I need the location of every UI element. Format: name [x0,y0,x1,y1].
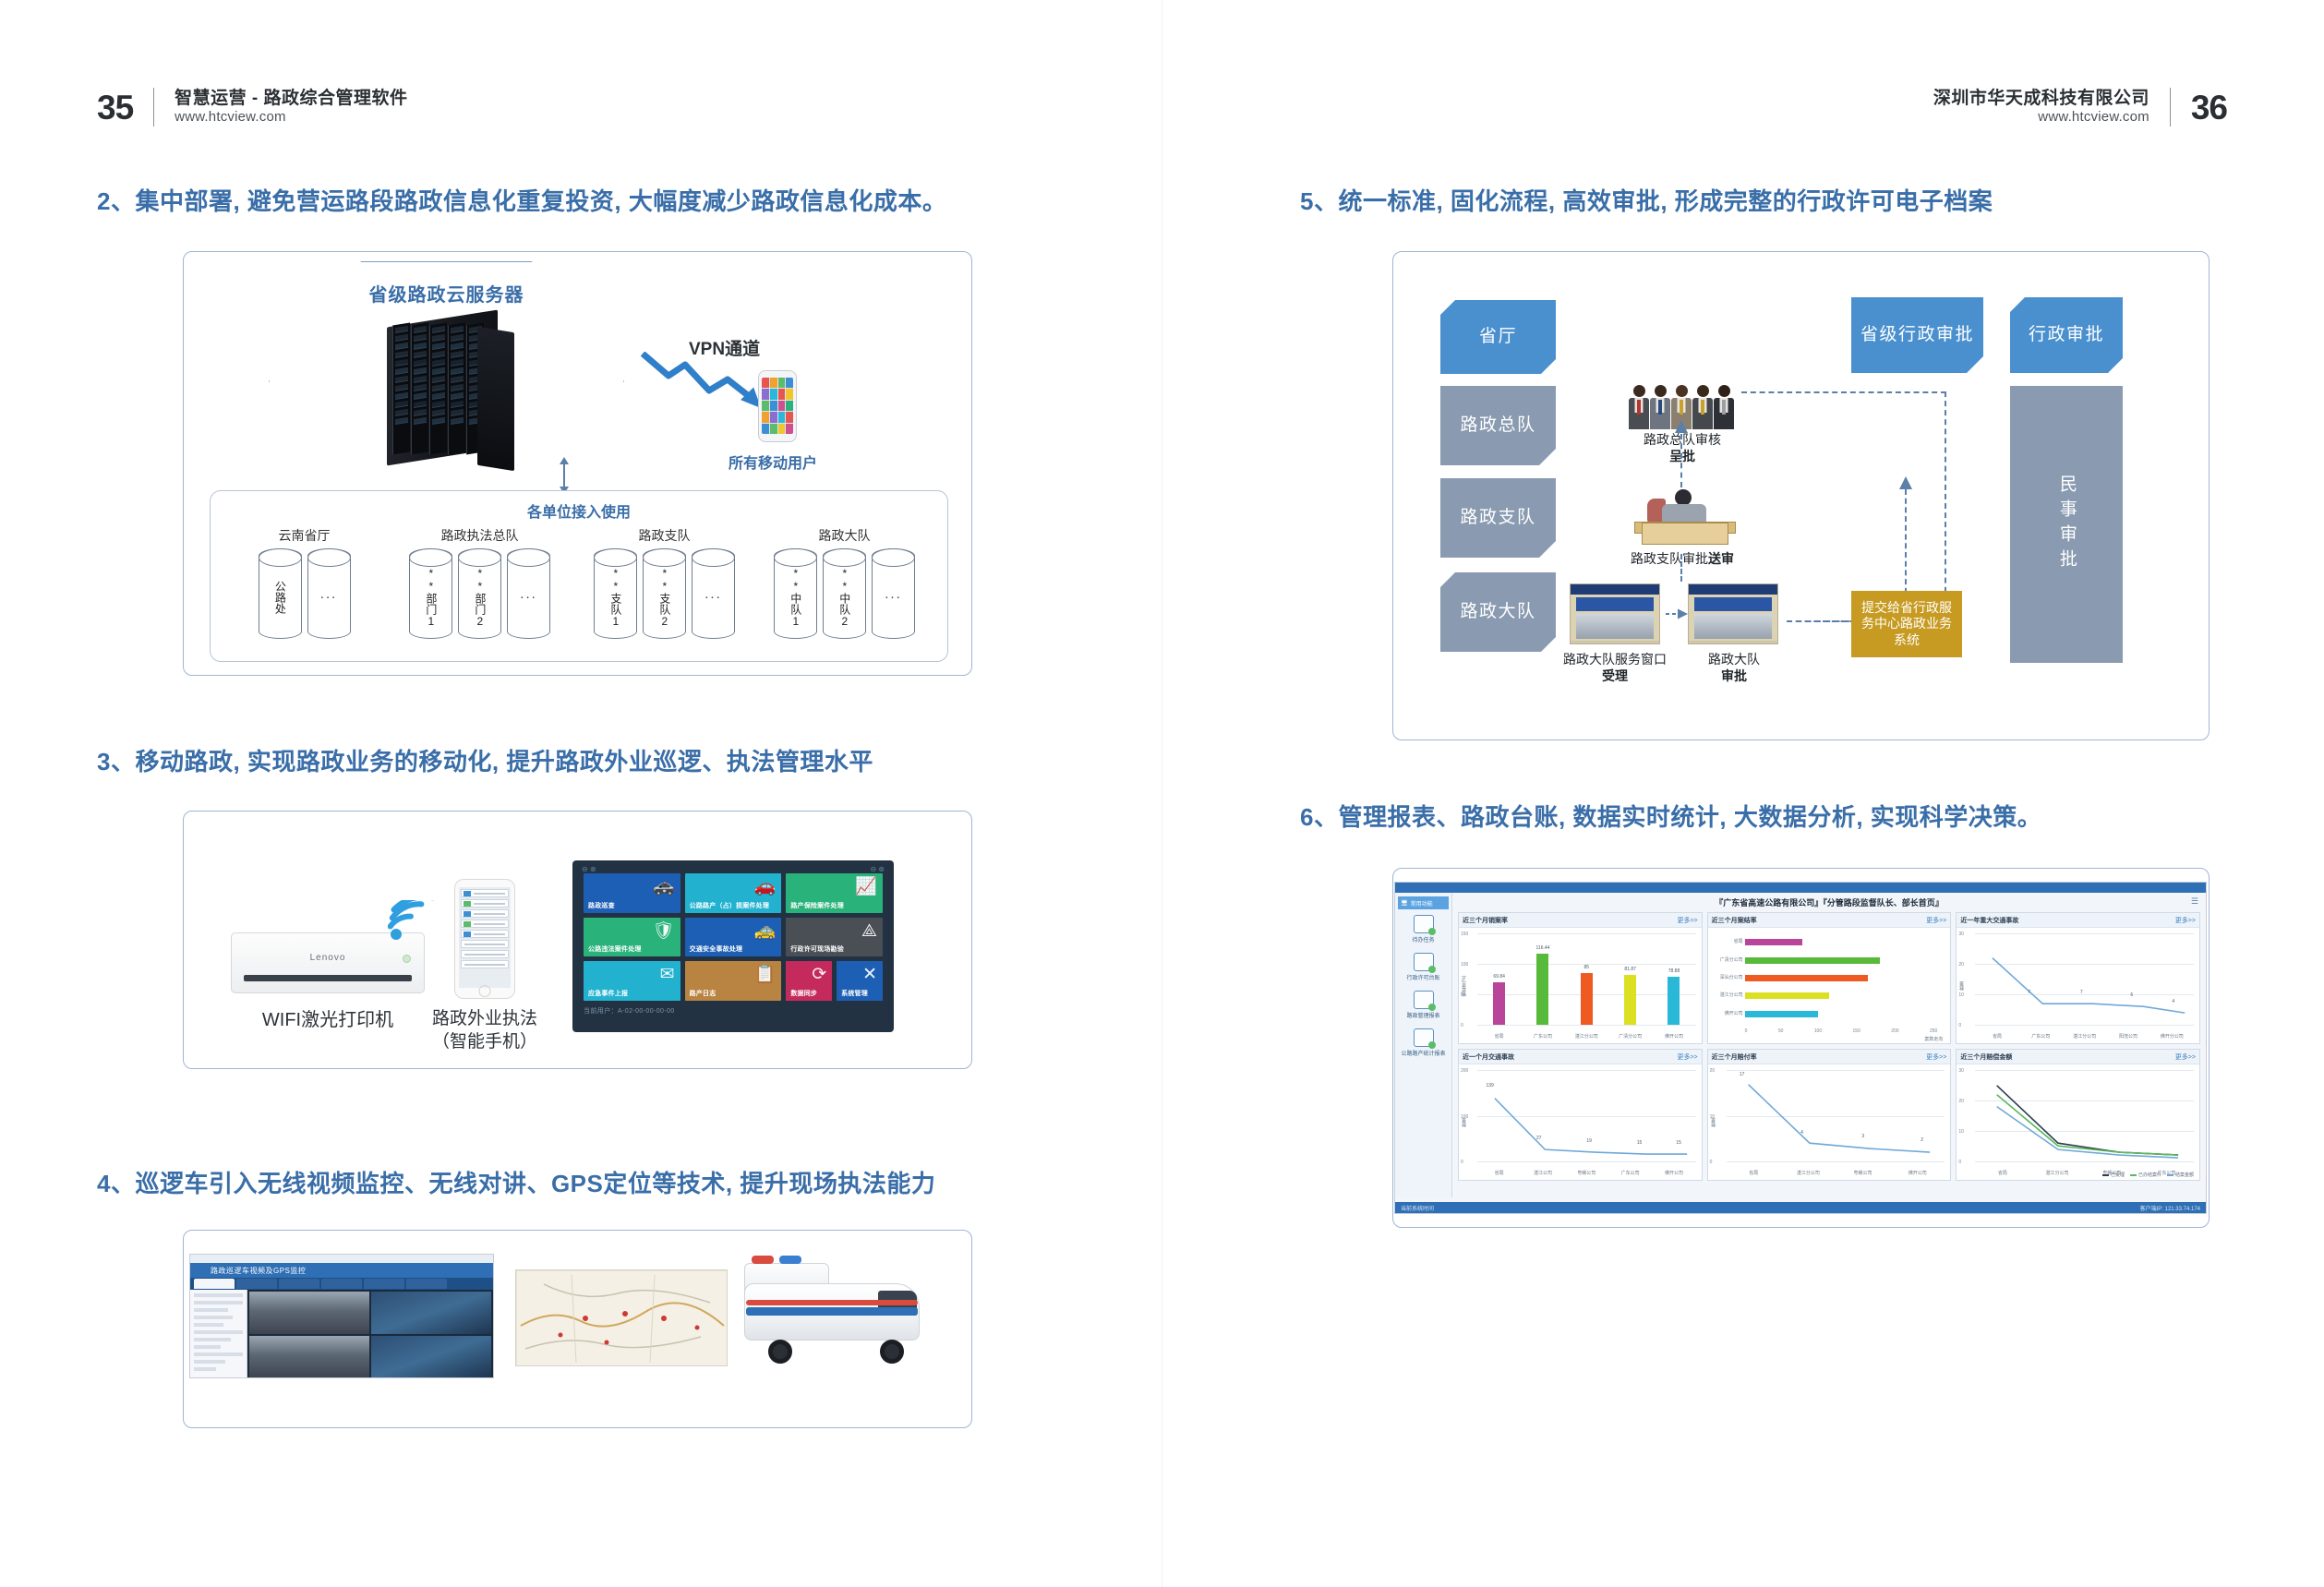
flow-step-2-line1: 路政支队审批 [1631,551,1708,566]
group-title: 云南省厅 [223,526,385,545]
home-button-icon[interactable] [479,985,491,997]
plot-area: 30 20 10 0 7 7 6 4 [1975,933,2194,1025]
point-value: 2 [1921,1137,1923,1143]
y-tick: 0 [1461,1023,1463,1028]
dashboard-title-wrap: 『广东省高速公路有限公司』『分管路段监督队长、部长首页』 ☰ [1458,896,2200,908]
flow-step-4-line2: 审批 [1721,668,1747,683]
x-tick: 省局 [1484,1170,1515,1176]
tablet-app-screenshot: ⊖ ⊗ ⊖ ⊗ 🚓 路政巡查 🚗 公路路产（占）损案件处理 📈 路产保险案件处理… [572,860,894,1032]
point-value: 3 [1861,1134,1864,1139]
patrol-vehicle-image [739,1256,928,1371]
more-link[interactable]: 更多>> [1926,916,1946,925]
sidebar-item-report[interactable]: 路政管理报表 [1395,991,1451,1019]
flow-arrow-right-icon [1666,607,1688,620]
flow-node-admin-approval: 行政审批 [2010,297,2123,373]
report-icon [1414,991,1434,1009]
flow-step-1-line2: 呈批 [1669,449,1695,463]
service-window-building-image [1570,583,1660,644]
org-group: 路政执法总队 **部门1 **部门2 ... [385,526,574,639]
x-tick: 省局 [1484,1033,1515,1040]
dashboard-panels-row2: 近一个月交通事故 更多>> 数量 200 100 0 [1458,1049,2200,1181]
flow-node-provincial-dept: 省厅 [1440,300,1556,374]
tab-playback[interactable] [236,1279,277,1289]
flow-arrow-up-icon [1673,420,1690,437]
tablet-window-controls: ⊖ ⊗ ⊖ ⊗ [572,865,894,873]
chart-title: 近三个月案结率 [1712,916,1757,925]
app-tile-violation[interactable]: 🛡 公路违法案件处理 [584,918,680,957]
header-divider [153,88,154,126]
chart-panel-major-accidents: 近一年重大交通事故 更多>> 数量 30 20 10 0 [1956,912,2200,1044]
org-group: 路政支队 **支队1 **支队2 ... [574,526,754,639]
point-value: 139 [1486,1083,1493,1088]
hbar: 深汕分公司 [1745,975,1869,981]
printer-brand-label: Lenovo [231,953,425,963]
cylinder-label: ... [520,586,537,602]
more-link[interactable]: 更多>> [1677,1052,1697,1062]
sidebar-item-label: 路政管理报表 [1395,1011,1451,1019]
x-tick: 250 [1930,1028,1937,1034]
cylinder-label: **中队2 [838,567,850,628]
bidirectional-arrow-icon [557,457,572,494]
section-6-heading: 6、管理报表、路政台账, 数据实时统计, 大数据分析, 实现科学决策。 [1300,799,2041,833]
hbar: 省局 [1745,939,1803,945]
header-left: 35 智慧运营 - 路政综合管理软件 www.htcview.com [97,88,408,126]
y-tick: 50 [1461,992,1466,998]
hbar: 广清分公司 [1745,957,1880,964]
tile-label: 行政许可现场勘验 [790,944,844,954]
x-tick: 粤赣公司 [1571,1170,1602,1176]
group-title: 路政支队 [574,526,754,545]
printer-caption: WIFI激光打印机 [212,1008,443,1032]
db-cylinder: 公路处 [259,548,302,639]
x-axis-ticks: 0 50 100 150 200 250 [1745,1028,1938,1034]
db-cylinder: ... [872,548,915,639]
clipboard-check-icon: 📋 [754,966,777,983]
db-cylinder: **中队2 [823,548,866,639]
tile-label: 交通安全事故处理 [690,944,743,954]
chart-title: 近三个月销案率 [1463,916,1508,925]
y-tick: 10 [1710,1114,1716,1120]
plot-area: 省局 广清分公司 深汕分公司 湛江分公司 佛开公司 [1745,933,1938,1023]
smartphone-image [454,879,515,999]
org-group: 云南省厅 公路处 ... [223,526,385,639]
bar-value: 85 [1584,965,1590,970]
app-tile-sync[interactable]: ⟳ 数据同步 [786,961,832,1001]
stats-icon [1414,1028,1434,1047]
x-tick: 佛开公司 [1658,1033,1690,1040]
cylinder-label: ... [704,586,722,602]
video-pane-cabin-1[interactable] [371,1292,491,1334]
flow-step-4-line1: 路政大队 [1679,652,1789,668]
more-link[interactable]: 更多>> [2175,916,2196,925]
y-tick: 省局 [1710,938,1743,944]
sidebar-item-tasks[interactable]: 待办任务 [1395,915,1451,944]
line-series [1477,1070,1696,1161]
cylinder-label: **部门2 [474,567,486,628]
page-number-right: 36 [2191,90,2227,125]
db-cylinder: **部门1 [409,548,452,639]
point-value: 4 [1800,1130,1803,1136]
officer-at-desk-image [1634,487,1736,545]
x-tick: 50 [1778,1028,1784,1034]
chart-panel-compensation-rate: 近三个月赔付率 更多>> 数量 20 10 0 [1707,1049,1952,1181]
header-url-left: www.htcview.com [175,109,407,126]
chart-panel-compensation-amount: 近三个月赔偿金额 更多>> 30 20 10 0 [1956,1049,2200,1181]
cylinder-label: ... [885,586,902,602]
chart-title: 近三个月赔偿金额 [1960,1052,2012,1062]
bar: 69.84 [1493,982,1505,1025]
bar: 116.44 [1536,954,1548,1025]
point-value: 17 [1740,1072,1745,1077]
tile-label: 路产日志 [690,989,716,998]
tab-alarms[interactable] [279,1279,319,1289]
cctv-monitoring-screenshot: 路政巡逻车视频及GPS监控 [189,1254,494,1378]
org-groups: 云南省厅 公路处 ... 路政执法总队 **部门1 **部门2 ... 路政 [223,526,934,639]
video-pane-cabin-2[interactable] [371,1336,491,1378]
x-tick: 湛江分公司 [2041,1170,2073,1176]
dashboard-title: 『广东省高速公路有限公司』『分管路段监督队长、部长首页』 [1715,898,1944,908]
section-4-heading: 4、巡逻车引入无线视频监控、无线对讲、GPS定位等技术, 提升现场执法能力 [97,1165,935,1199]
point-value: 15 [1637,1140,1643,1146]
point-value: 27 [1536,1136,1542,1141]
flow-step-2-line2: 送审 [1708,551,1734,566]
legend-item: 已办结案件 [2130,1172,2161,1178]
cylinder-label: **支队2 [658,567,670,628]
x-tick: 省局 [1738,1170,1769,1176]
line-series [1727,1070,1945,1161]
section-5-heading: 5、统一标准, 固化流程, 高效审批, 形成完整的行政许可电子档案 [1300,183,1993,217]
x-tick: 省局 [1981,1033,2013,1040]
app-tile-patrol[interactable]: 🚓 路政巡查 [584,873,680,913]
map-graphic [516,1270,728,1366]
x-tick: 湛江分公司 [1571,1033,1602,1040]
app-tile-road-damage[interactable]: 🚗 公路路产（占）损案件处理 [685,873,782,913]
video-pane-road-rear[interactable] [249,1336,369,1378]
brigade-building-image [1688,583,1778,644]
header-url-right: www.htcview.com [1933,109,2149,126]
db-cylinder: ... [692,548,735,639]
bar: 85 [1581,973,1593,1025]
tile-label: 路产保险案件处理 [790,901,844,910]
tools-icon: ✕ [862,966,877,983]
flow-step-3-line2: 受理 [1602,668,1628,683]
sidebar-item-license[interactable]: 行政许可台账 [1395,953,1451,981]
x-tick: 佛开公司 [1658,1170,1690,1176]
printer-power-led-icon [403,955,411,963]
db-cylinder: **支队1 [594,548,637,639]
bar-chart-icon: 📈 [855,878,877,896]
smartphone-screen [459,887,511,988]
window-close-icon[interactable]: ⊖ ⊗ [870,865,885,873]
x-tick: 湛江公司 [1527,1170,1559,1176]
license-icon [1414,953,1434,971]
y-axis-label: 数量 [1958,981,1965,991]
bar-value: 81.87 [1624,967,1636,972]
db-cylinder: **支队2 [643,548,686,639]
y-tick: 0 [1958,1023,1961,1028]
y-tick: 湛江分公司 [1710,992,1743,998]
flow-node-brigade: 路政大队 [1440,572,1556,652]
y-tick: 0 [1461,1160,1463,1165]
cylinder-label: 公路处 [274,581,286,614]
window-minimize-icon[interactable]: ⊖ ⊗ [582,865,596,873]
point-value: 15 [1676,1140,1681,1146]
flow-arrow-up-gold-icon [1897,476,1914,493]
brochure-spread: 35 智慧运营 - 路政综合管理软件 www.htcview.com 深圳市华天… [0,0,2324,1587]
task-icon [1414,915,1434,933]
dashboard-topbar [1395,883,2206,893]
plot-area: 200 100 0 139 27 19 15 15 [1477,1070,1696,1161]
chart-title: 近一年重大交通事故 [1960,916,2018,925]
flow-node-detachment: 路政支队 [1440,478,1556,558]
app-tile-insurance[interactable]: 📈 路产保险案件处理 [786,873,883,913]
sidebar-item-label: 行政许可台账 [1395,973,1451,981]
video-pane-road-front[interactable] [249,1292,369,1334]
gps-map-screenshot [515,1269,728,1366]
app-tile-permit-survey[interactable]: ⟁ 行政许可现场勘验 [786,918,883,957]
section-2-heading: 2、集中部署, 避免营运路段路政信息化重复投资, 大幅度减少路政信息化成本。 [97,183,946,217]
flow-node-submit-to-province: 提交给省行政服务中心路政业务系统 [1851,591,1962,657]
y-tick: 20 [1710,1068,1716,1074]
y-tick: 30 [1958,932,1964,937]
section-3-heading: 3、移动路政, 实现路政业务的移动化, 提升路政外业巡逻、执法管理水平 [97,743,873,777]
y-tick: 100 [1461,1114,1468,1120]
cloud-server-label: 省级路政云服务器 [269,280,624,307]
tile-label: 路政巡查 [588,901,615,910]
flow-connector-right [1945,391,1946,620]
bar-value: 78.88 [1668,968,1680,974]
tile-label: 应急事件上报 [588,989,628,998]
group-title: 路政执法总队 [385,526,574,545]
db-cylinder: **中队1 [774,548,817,639]
phone-caption-line1: 路政外业执法 [425,1008,545,1031]
sidebar-item-stats[interactable]: 公路路产统计报表 [1395,1028,1451,1057]
tile-label: 系统管理 [841,989,868,998]
tablet-status-bar: 当前用户：A-02-00-00-00-00 [584,1006,883,1016]
x-tick: 湛江分公司 [1792,1170,1824,1176]
point-value: 7 [2028,990,2030,995]
header-divider [2170,88,2171,126]
group-title: 路政大队 [754,526,934,545]
sync-icon: ⟳ [812,966,826,983]
cctv-device-tree[interactable] [190,1290,247,1378]
header-title-left: 智慧运营 - 路政综合管理软件 [175,89,407,109]
x-tick: 0 [1745,1028,1748,1034]
y-tick: 200 [1461,1068,1468,1074]
x-tick: 佛开公司 [1902,1170,1933,1176]
tab-settings[interactable] [364,1279,404,1289]
bar-value: 116.44 [1536,945,1550,951]
accident-car-icon: 🚗 [754,878,777,896]
page-gutter [1162,0,1162,1587]
shield-icon: 🛡 [653,922,675,940]
y-tick: 10 [1958,1129,1964,1135]
flow-node-provincial-approval: 省级行政审批 [1851,297,1983,373]
sidebar-header-label: 常用功能 [1411,899,1433,908]
legend-item: 结案金额 [2167,1172,2194,1178]
hbar: 湛江分公司 [1745,992,1830,999]
bar: 78.88 [1668,977,1680,1025]
emergency-light-blue-icon [779,1256,801,1264]
more-link[interactable]: 更多>> [1926,1052,1946,1062]
multi-line-series [1975,1070,2194,1161]
y-tick: 30 [1958,1068,1964,1074]
tile-label: 数据同步 [790,989,817,998]
more-link[interactable]: 更多>> [1677,916,1697,925]
org-group: 路政大队 **中队1 **中队2 ... [754,526,934,639]
x-tick: 阳茂公司 [2113,1033,2144,1040]
chart-panel-month-accidents: 近一个月交通事故 更多>> 数量 200 100 0 [1458,1049,1703,1181]
flow-node-civil-approval: 民事审批 [2010,386,2123,663]
cylinder-label: ... [320,586,338,602]
wifi-icon [388,900,438,941]
point-value: 7 [2080,990,2083,995]
footer-time-label: 当前系统时间 [1401,1204,1434,1212]
app-tile-pair: ⟳ 数据同步 ✕ 系统管理 [786,961,883,1001]
x-axis-label: 案数走向 [1924,1036,1943,1042]
civil-approval-label: 民事审批 [2055,475,2077,574]
cctv-tab-bar [190,1278,493,1290]
y-tick: 20 [1958,962,1964,968]
tab-live-video[interactable] [194,1279,235,1289]
y-tick: 广清分公司 [1710,956,1743,963]
point-value: 4 [2172,999,2174,1004]
y-tick: 0 [1958,1160,1961,1165]
app-tile-system[interactable]: ✕ 系统管理 [837,961,883,1001]
chart-title: 近三个月赔付率 [1712,1052,1757,1062]
y-tick: 100 [1461,962,1468,968]
vpn-channel-label: VPN通道 [689,335,760,360]
mobile-users-label: 所有移动用户 [729,451,817,473]
compass-icon: ⟁ [861,922,877,940]
db-cylinder: **部门2 [458,548,501,639]
y-tick: 10 [1958,992,1964,998]
management-dashboard-screenshot: 🖥 常用功能 待办任务 行政许可台账 路政管理报表 公路路产统计报 [1394,882,2207,1214]
app-tile-road-log[interactable]: 📋 路产日志 [685,961,782,1001]
dashboard-sidebar: 🖥 常用功能 待办任务 行政许可台账 路政管理报表 公路路产统计报 [1395,893,1452,1197]
chart-legend: 已受理 已办结案件 结案金额 [2102,1172,2194,1178]
phone-caption-line2: （智能手机） [425,1031,545,1054]
x-tick: 广东公司 [2025,1033,2056,1040]
flow-connector-vertical [1680,434,1682,487]
sidebar-header: 🖥 常用功能 [1398,896,1449,909]
flow-node-corps: 路政总队 [1440,386,1556,465]
y-tick: 20 [1958,1099,1964,1104]
dashboard-footer: 当前系统时间 客户端IP: 121.33.74.174 [1395,1202,2206,1213]
server-rack-image [361,319,527,471]
units-access-container: 各单位接入使用 云南省厅 公路处 ... 路政执法总队 **部门1 **部门2 … [210,490,948,662]
x-tick: 广东公司 [1615,1170,1646,1176]
chart-panel-settlement-rate: 近三个月案结率 更多>> 省局 广清分公司 深汕分公司 湛江分公司 佛开公司 [1707,912,1952,1044]
x-tick: 广东公司 [1527,1033,1559,1040]
dashboard-panels-row1: 近三个月销案率 更多>> 销案率(%) 150 100 50 0 [1458,912,2200,1044]
line-series [1975,933,2194,1025]
y-tick: 深汕分公司 [1710,974,1743,980]
x-tick: 湛江分公司 [2069,1033,2101,1040]
y-tick: 150 [1461,932,1468,937]
page-number-left: 35 [97,90,133,125]
cylinder-label: **中队1 [789,567,801,628]
db-cylinder: ... [507,548,550,639]
x-tick: 200 [1891,1028,1898,1034]
x-tick: 粤赣公司 [1848,1170,1879,1176]
plot-area: 30 20 10 0 [1975,1070,2194,1161]
patrol-car-icon: 🚓 [653,878,675,896]
app-tile-traffic-accident[interactable]: 🚕 交通安全事故处理 [685,918,782,957]
sidebar-item-label: 待办任务 [1395,935,1451,944]
x-tick: 省局 [1987,1170,2018,1176]
mobile-phone-image [758,370,797,442]
flow-step-3-line1: 路政大队服务窗口 [1544,652,1686,668]
db-cylinder: ... [307,548,351,639]
hbar: 佛开公司 [1745,1011,1818,1017]
bar-value: 69.84 [1493,974,1505,980]
tile-label: 公路路产（占）损案件处理 [690,901,769,910]
footer-ip-label: 客户端IP: 121.33.74.174 [2140,1204,2200,1212]
header-company-right: 深圳市华天成科技有限公司 [1933,89,2149,109]
phone-screen [762,378,793,434]
monitor-icon: 🖥 [1401,900,1408,907]
cctv-app-title: 路政巡逻车视频及GPS监控 [190,1263,493,1278]
point-value: 6 [2130,992,2133,998]
x-tick: 佛开分公司 [2156,1033,2187,1040]
flow-connector-vertical [1680,554,1682,582]
x-tick: 100 [1814,1028,1822,1034]
y-tick: 佛开公司 [1710,1010,1743,1016]
chart-title: 近一个月交通事故 [1463,1052,1514,1062]
y-tick: 0 [1710,1160,1713,1165]
flow-connector-top [1741,391,1946,393]
point-value: 19 [1586,1138,1592,1144]
mail-icon: ✉ [660,966,675,983]
cylinder-label: **部门1 [425,567,437,628]
chart-panel-close-rate: 近三个月销案率 更多>> 销案率(%) 150 100 50 0 [1458,912,1703,1044]
app-tile-emergency[interactable]: ✉ 应急事件上报 [584,961,680,1001]
sidebar-item-label: 公路路产统计报表 [1395,1049,1451,1057]
units-access-title: 各单位接入使用 [211,499,947,522]
plot-area: 20 10 0 17 4 3 2 [1727,1070,1945,1161]
x-tick: 150 [1853,1028,1860,1034]
tab-reports[interactable] [406,1279,447,1289]
app-tile-grid: 🚓 路政巡查 🚗 公路路产（占）损案件处理 📈 路产保险案件处理 🛡 公路违法案… [584,873,883,1001]
header-right: 深圳市华天成科技有限公司 www.htcview.com 36 [1933,88,2227,126]
bar: 81.87 [1624,975,1636,1025]
legend-item: 已受理 [2102,1172,2125,1178]
taxi-icon: 🚕 [754,922,777,940]
more-link[interactable]: 更多>> [2175,1052,2196,1062]
emergency-light-red-icon [752,1256,774,1264]
tab-vehicles[interactable] [321,1279,362,1289]
cylinder-label: **支队1 [609,567,621,628]
tile-label: 公路违法案件处理 [588,944,642,954]
plot-area: 150 100 50 0 69.84 116.44 85 81.87 78.88 [1477,933,1696,1025]
x-tick: 广清分公司 [1615,1033,1646,1040]
figure-cloud-deployment: 省级路政云服务器 VPN通道 [183,251,972,676]
menu-icon[interactable]: ☰ [2191,896,2198,907]
wifi-printer-image: Lenovo [231,932,425,993]
